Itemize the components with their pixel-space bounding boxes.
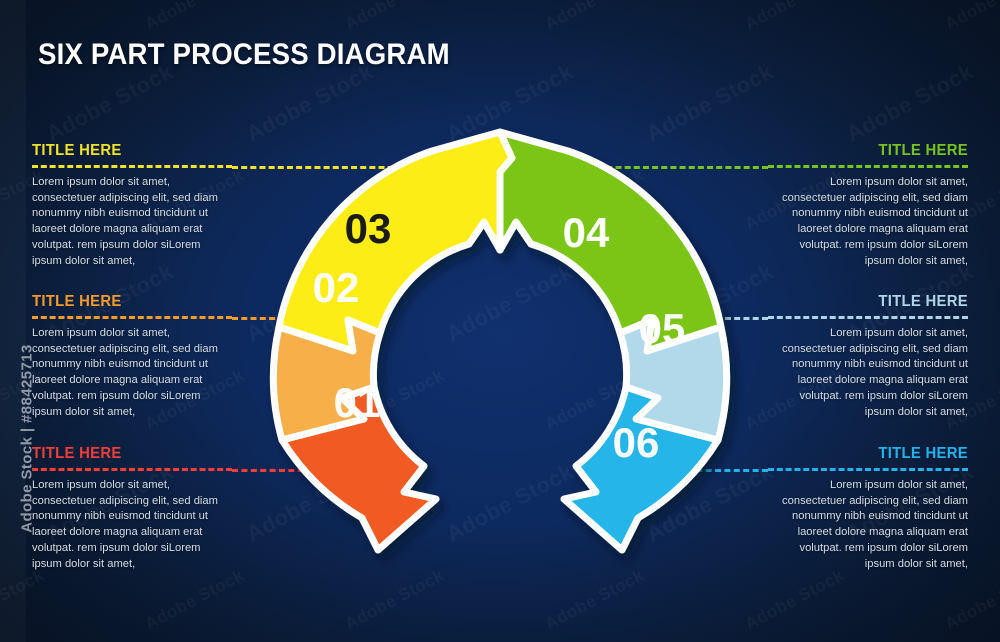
block-body: Lorem ipsum dolor sit amet, consectetuer… <box>32 326 232 421</box>
block-title: TITLE HERE <box>782 142 968 160</box>
segment-03-number: 03 <box>345 205 392 252</box>
segment-03-shape[interactable] <box>279 132 512 351</box>
segment-06-number: 06 <box>613 419 660 466</box>
block-rule <box>768 316 968 319</box>
block-body: Lorem ipsum dolor sit amet, consectetuer… <box>768 326 968 421</box>
text-block-5: TITLE HERELorem ipsum dolor sit amet, co… <box>768 293 968 421</box>
block-title: TITLE HERE <box>782 293 968 311</box>
text-block-1: TITLE HERELorem ipsum dolor sit amet, co… <box>32 142 232 270</box>
block-body: Lorem ipsum dolor sit amet, consectetuer… <box>768 478 968 573</box>
block-rule <box>32 468 232 471</box>
page-title: SIX PART PROCESS DIAGRAM <box>38 38 450 72</box>
text-block-6: TITLE HERELorem ipsum dolor sit amet, co… <box>768 445 968 573</box>
segment-04-number: 04 <box>563 209 610 256</box>
segment-05-number: 05 <box>639 305 686 352</box>
text-block-3: TITLE HERELorem ipsum dolor sit amet, co… <box>32 445 232 573</box>
segment-04-shape[interactable] <box>500 132 721 351</box>
block-rule <box>32 165 232 168</box>
process-wheel: 03 04 02 05 01 06 <box>238 110 762 570</box>
text-block-2: TITLE HERELorem ipsum dolor sit amet, co… <box>32 293 232 421</box>
block-title: TITLE HERE <box>32 445 218 463</box>
block-title: TITLE HERE <box>782 445 968 463</box>
block-rule <box>768 165 968 168</box>
block-title: TITLE HERE <box>32 293 218 311</box>
segment-02-number: 02 <box>313 264 360 311</box>
block-rule <box>768 468 968 471</box>
infographic-canvas: Adobe StockAdobe StockAdobe StockAdobe S… <box>0 0 1000 642</box>
block-rule <box>32 316 232 319</box>
segment-01-number: 01 <box>334 379 381 426</box>
block-title: TITLE HERE <box>32 142 218 160</box>
block-body: Lorem ipsum dolor sit amet, consectetuer… <box>32 175 232 270</box>
block-body: Lorem ipsum dolor sit amet, consectetuer… <box>768 175 968 270</box>
text-block-4: TITLE HERELorem ipsum dolor sit amet, co… <box>768 142 968 270</box>
block-body: Lorem ipsum dolor sit amet, consectetuer… <box>32 478 232 573</box>
